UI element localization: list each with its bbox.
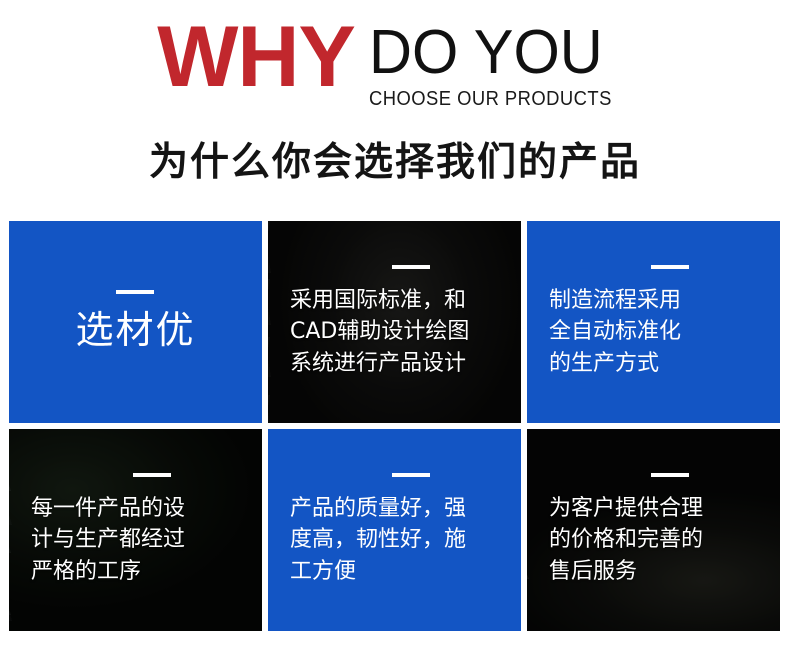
card-content: 为客户提供合理 的价格和完善的 售后服务 bbox=[549, 473, 766, 587]
feature-card-design[interactable]: 采用国际标准，和 CAD辅助设计绘图 系统进行产品设计 bbox=[268, 221, 521, 423]
feature-grid: 选材优 采用国际标准，和 CAD辅助设计绘图 系统进行产品设计 制造流程采用 全… bbox=[9, 221, 790, 637]
card-content: 制造流程采用 全自动标准化 的生产方式 bbox=[549, 265, 766, 379]
headline-main-words: DO YOU bbox=[369, 22, 603, 84]
divider-dash-icon bbox=[651, 265, 689, 269]
card-content: 产品的质量好，强 度高，韧性好，施 工方便 bbox=[290, 473, 507, 587]
divider-dash-icon bbox=[651, 473, 689, 477]
card-text: 采用国际标准，和 CAD辅助设计绘图 系统进行产品设计 bbox=[290, 285, 507, 379]
card-text: 制造流程采用 全自动标准化 的生产方式 bbox=[549, 285, 766, 379]
feature-card-quality[interactable]: 产品的质量好，强 度高，韧性好，施 工方便 bbox=[268, 429, 521, 631]
headline-accent-word: WHY bbox=[157, 18, 355, 97]
divider-dash-icon bbox=[392, 265, 430, 269]
card-content: 选材优 bbox=[75, 290, 195, 354]
divider-dash-icon bbox=[116, 290, 154, 294]
headline-right-block: DO YOU CHOOSE OUR PRODUCTS bbox=[369, 18, 633, 111]
feature-card-manufacturing[interactable]: 制造流程采用 全自动标准化 的生产方式 bbox=[527, 221, 780, 423]
promo-page: WHY DO YOU CHOOSE OUR PRODUCTS 为什么你会选择我们… bbox=[0, 0, 790, 665]
card-content: 每一件产品的设 计与生产都经过 严格的工序 bbox=[31, 473, 248, 587]
card-text: 选材优 bbox=[75, 308, 195, 354]
feature-card-material[interactable]: 选材优 bbox=[9, 221, 262, 423]
headline-subtitle-en: CHOOSE OUR PRODUCTS bbox=[369, 88, 612, 111]
feature-card-process[interactable]: 每一件产品的设 计与生产都经过 严格的工序 bbox=[9, 429, 262, 631]
card-text: 产品的质量好，强 度高，韧性好，施 工方便 bbox=[290, 493, 507, 587]
page-title: 为什么你会选择我们的产品 bbox=[0, 131, 790, 187]
card-text: 每一件产品的设 计与生产都经过 严格的工序 bbox=[31, 493, 248, 587]
divider-dash-icon bbox=[392, 473, 430, 477]
divider-dash-icon bbox=[133, 473, 171, 477]
feature-card-service[interactable]: 为客户提供合理 的价格和完善的 售后服务 bbox=[527, 429, 780, 631]
headline-row: WHY DO YOU CHOOSE OUR PRODUCTS bbox=[0, 18, 790, 111]
card-content: 采用国际标准，和 CAD辅助设计绘图 系统进行产品设计 bbox=[290, 265, 507, 379]
page-header: WHY DO YOU CHOOSE OUR PRODUCTS 为什么你会选择我们… bbox=[0, 0, 790, 200]
card-text: 为客户提供合理 的价格和完善的 售后服务 bbox=[549, 493, 766, 587]
